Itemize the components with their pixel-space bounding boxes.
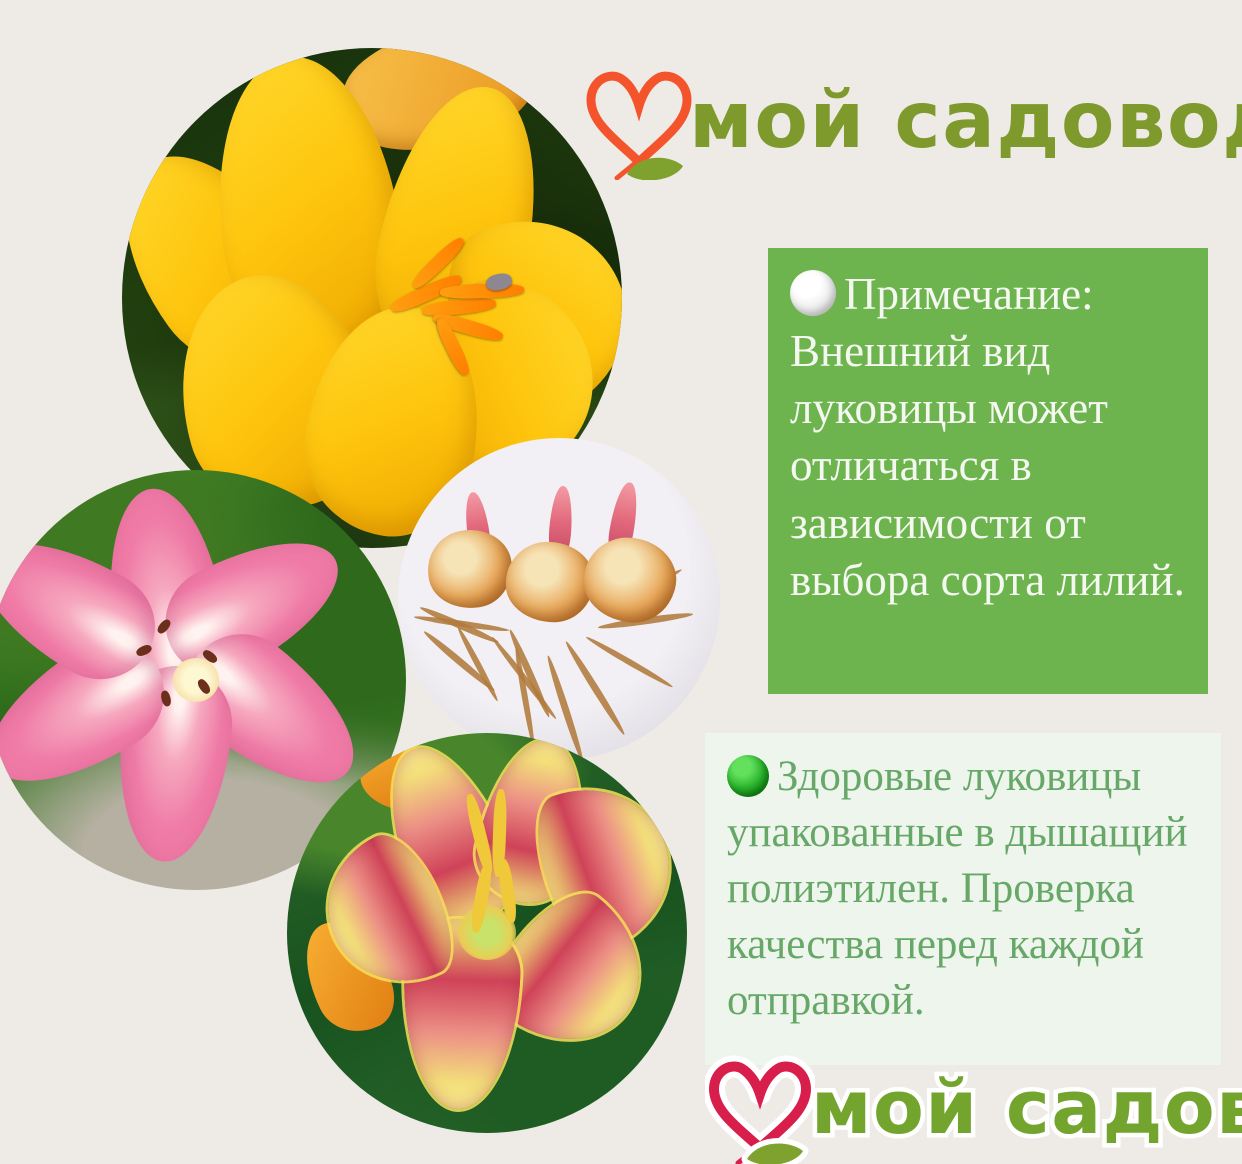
note-box-primary: Примечание: Внешний вид луковицы может о…: [768, 248, 1208, 694]
white-circle-bullet-icon: [790, 270, 836, 316]
heart-leaf-icon: [705, 1052, 815, 1164]
green-circle-bullet-icon: [727, 755, 769, 797]
brand-logo-bottom[interactable]: мой садовод: [705, 1052, 1242, 1164]
brand-logo-top[interactable]: мой садовод: [583, 62, 1242, 180]
brand-wordmark: мой садовод: [811, 1065, 1242, 1151]
photo-bicolor-lily: [287, 733, 687, 1133]
photo-lily-bulbs: [398, 438, 720, 760]
note-green-text: Примечание: Внешний вид луковицы может о…: [790, 269, 1185, 605]
poster-canvas: мой садовод Примечание: Внешний вид луко…: [0, 0, 1242, 1164]
note-box-secondary: Здоровые луковицы упакованные в дышащий …: [705, 733, 1221, 1065]
heart-leaf-icon: [583, 62, 695, 180]
note-mint-text: Здоровые луковицы упакованные в дышащий …: [727, 753, 1188, 1024]
brand-wordmark: мой садовод: [689, 76, 1242, 166]
